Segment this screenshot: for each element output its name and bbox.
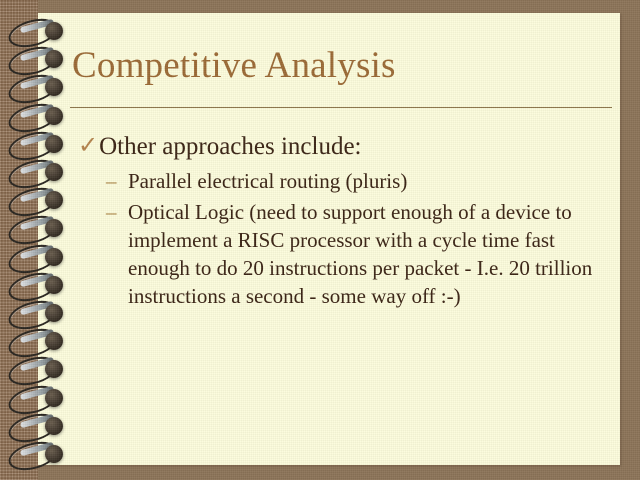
page-title: Competitive Analysis xyxy=(72,44,612,88)
presentation-slide: Competitive Analysis ✓ Other approaches … xyxy=(0,0,640,480)
bullet-level2-text: Optical Logic (need to support enough of… xyxy=(122,198,612,310)
slide-body: ✓ Other approaches include: – Parallel e… xyxy=(78,131,612,310)
en-dash-bullet-icon: – xyxy=(106,167,122,195)
notebook-spine-texture xyxy=(0,0,38,480)
en-dash-bullet-icon: – xyxy=(106,198,122,226)
check-mark-bullet-icon: ✓ xyxy=(78,131,98,162)
title-divider xyxy=(70,107,612,108)
bullet-level2: – Optical Logic (need to support enough … xyxy=(106,198,612,310)
bullet-level2-text: Parallel electrical routing (pluris) xyxy=(122,167,612,195)
bullet-level2: – Parallel electrical routing (pluris) xyxy=(106,167,612,195)
bullet-level1-text: Other approaches include: xyxy=(99,131,612,162)
bullet-level1: ✓ Other approaches include: xyxy=(78,131,612,162)
